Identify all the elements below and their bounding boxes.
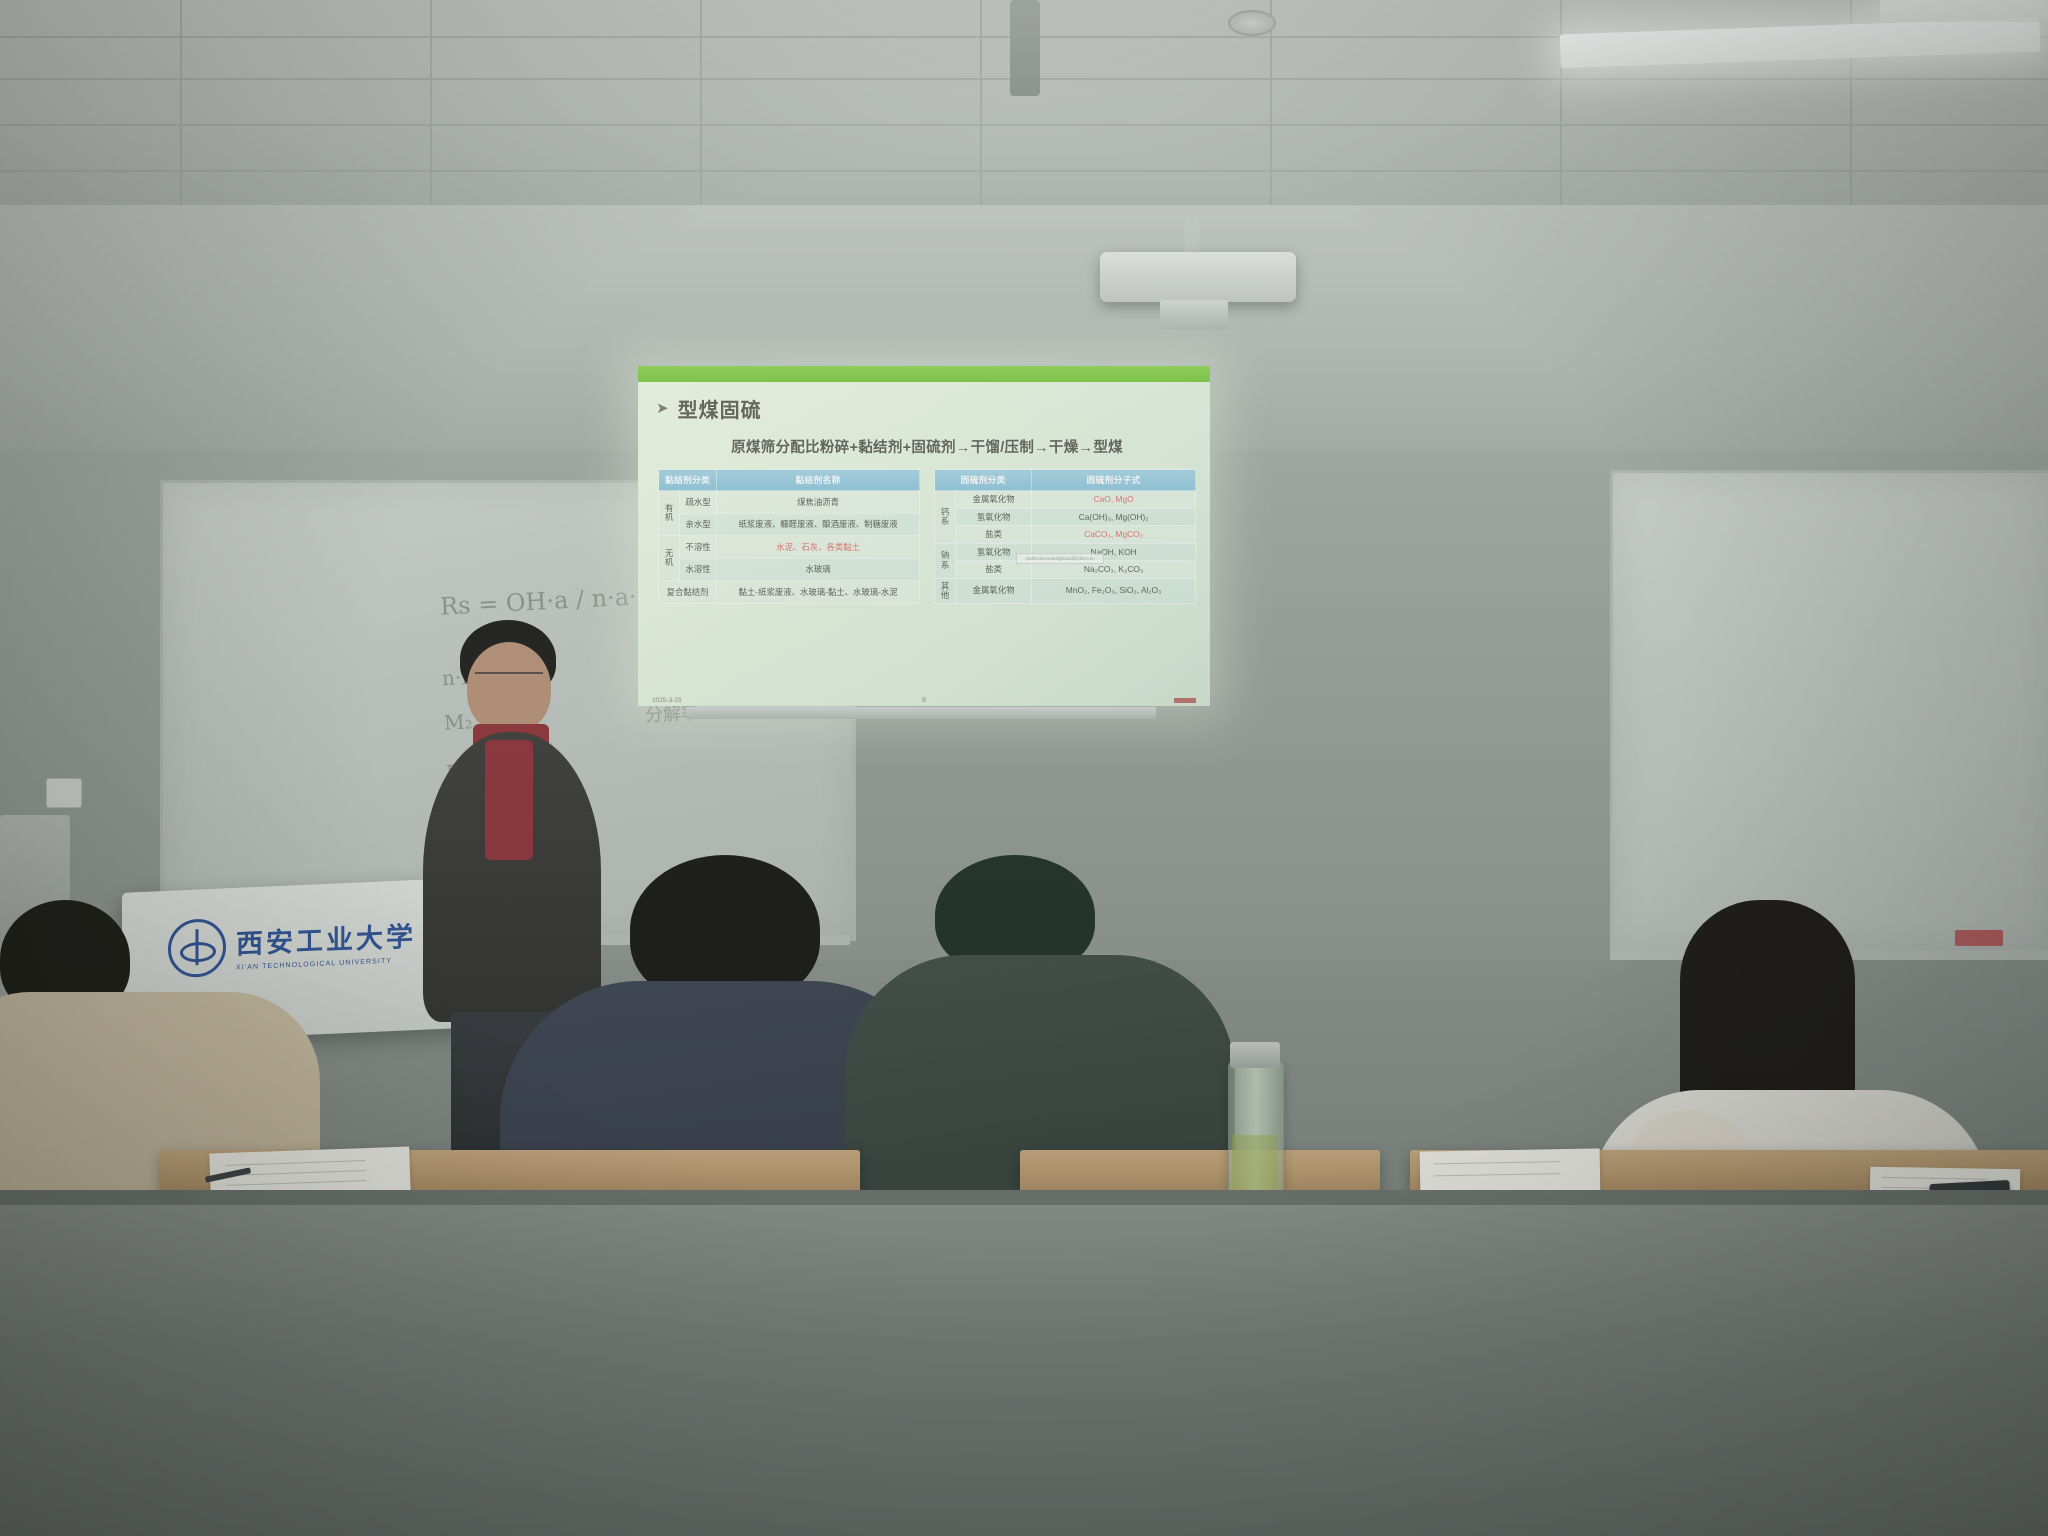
binder-name: 纸浆废液、糠醛废液、酿酒废液、制糖废液	[717, 513, 920, 536]
sulfur-col-class: 固硫剂分类	[935, 470, 1032, 491]
table-row: 亲水型 纸浆废液、糠醛废液、酿酒废液、制糖废液	[659, 513, 920, 536]
table-row: 钙系 金属氧化物 CaO, MgO	[935, 491, 1196, 509]
binder-name: 黏土-纸浆废液、水玻璃-黏土、水玻璃-水泥	[717, 581, 920, 604]
binder-type-composite: 复合黏结剂	[659, 581, 717, 604]
binder-col-name: 黏结剂名称	[717, 470, 920, 491]
sulfur-group-other: 其他	[935, 578, 956, 603]
sulfur-formula: Ca(OH)₂, Mg(OH)₂	[1032, 508, 1196, 526]
binder-group-inorganic: 无机	[659, 536, 680, 581]
table-row: 无机 不溶性 水泥、石灰、各类黏土	[659, 536, 920, 559]
binder-type: 水溶性	[680, 558, 717, 581]
classroom-scene: Rs = OH·a / n·a·n·a – M₁ >1 Vol n·n·a M₂…	[0, 0, 2048, 1536]
sulfur-group-calcium: 钙系	[935, 491, 956, 544]
projection-screen-bottom-bar	[686, 707, 1156, 719]
binder-group-organic: 有机	[659, 491, 680, 536]
binder-type: 不溶性	[680, 536, 717, 559]
binder-table: 黏结剂分类 黏结剂名称 有机 疏水型 煤焦油沥青 亲水型 纸浆废液、糠醛废液、酿…	[658, 469, 920, 604]
sulfur-formula-highlight: CaO, MgO	[1032, 491, 1196, 509]
ceiling-vent	[1228, 10, 1276, 36]
table-row: 其他 金属氧化物 MnO₂, Fe₂O₃, SiO₂, Al₂O₃	[935, 578, 1196, 603]
table-row: 水溶性 水玻璃	[659, 558, 920, 581]
whiteboard-right	[1610, 470, 2048, 956]
table-row: 氢氧化物 Ca(OH)₂, Mg(OH)₂	[935, 508, 1196, 526]
ceiling-speaker	[1010, 0, 1040, 96]
presenter-glasses-icon	[475, 672, 543, 686]
binder-name: 煤焦油沥青	[717, 491, 920, 514]
sulfur-group-sodium: 钠系	[935, 543, 956, 578]
slide-tables: 黏结剂分类 黏结剂名称 有机 疏水型 煤焦油沥青 亲水型 纸浆废液、糠醛废液、酿…	[656, 469, 1198, 604]
sulfur-table-header-row: 固硫剂分类 固硫剂分子式	[935, 470, 1196, 491]
ceiling-light-far	[1880, 0, 2048, 22]
projected-slide: ➤ 型煤固硫 原煤筛分配比粉碎+黏结剂+固硫剂→干馏/压制→干燥→型煤 黏结剂分…	[638, 366, 1210, 706]
sulfur-formula-highlight: CaCO₃, MgCO₃	[1032, 526, 1196, 544]
presenter-scarf	[485, 740, 533, 860]
binder-name-highlight: 水泥、石灰、各类黏土	[717, 536, 920, 559]
slide-subtitle: 原煤筛分配比粉碎+黏结剂+固硫剂→干馏/压制→干燥→型煤	[656, 436, 1198, 457]
sulfur-type: 金属氧化物	[956, 491, 1032, 509]
slide-watermark: mathsciencestudyboard@163.com	[1016, 553, 1104, 564]
binder-type: 疏水型	[680, 491, 717, 514]
wall-socket	[46, 778, 82, 808]
slide-title: 型煤固硫	[678, 394, 762, 423]
tea-bottle-cap[interactable]	[1230, 1042, 1280, 1068]
slide-title-row: ➤ 型煤固硫	[656, 394, 1198, 423]
sulfur-type: 盐类	[956, 526, 1032, 544]
sulfur-table: 固硫剂分类 固硫剂分子式 钙系 金属氧化物 CaO, MgO 氢氧化物 Ca(O…	[934, 469, 1196, 604]
slide-header-bar	[638, 366, 1210, 382]
floor	[0, 1205, 2048, 1536]
projector	[1100, 252, 1296, 302]
slide-footer-marker	[1174, 698, 1196, 703]
table-row: 盐类 CaCO₃, MgCO₃	[935, 526, 1196, 544]
sulfur-type: 氢氧化物	[956, 508, 1032, 526]
table-row: 复合黏结剂 黏土-纸浆废液、水玻璃-黏土、水玻璃-水泥	[659, 581, 920, 604]
sulfur-col-formula: 固硫剂分子式	[1032, 470, 1196, 491]
binder-col-class: 黏结剂分类	[659, 470, 717, 491]
table-row: 有机 疏水型 煤焦油沥青	[659, 491, 920, 514]
sulfur-formula: MnO₂, Fe₂O₃, SiO₂, Al₂O₃	[1032, 578, 1196, 603]
binder-type: 亲水型	[680, 513, 717, 536]
projector-lens	[1160, 300, 1228, 330]
projector-mount	[1185, 216, 1199, 256]
slide-page-number: 9	[638, 697, 1210, 704]
sulfur-type: 金属氧化物	[956, 578, 1032, 603]
bullet-arrow-icon: ➤	[656, 401, 669, 416]
presenter-head	[467, 642, 551, 734]
binder-table-header-row: 黏结剂分类 黏结剂名称	[659, 470, 920, 491]
slide-footer: 2025-3-25 9	[638, 697, 1210, 704]
binder-name: 水玻璃	[717, 558, 920, 581]
